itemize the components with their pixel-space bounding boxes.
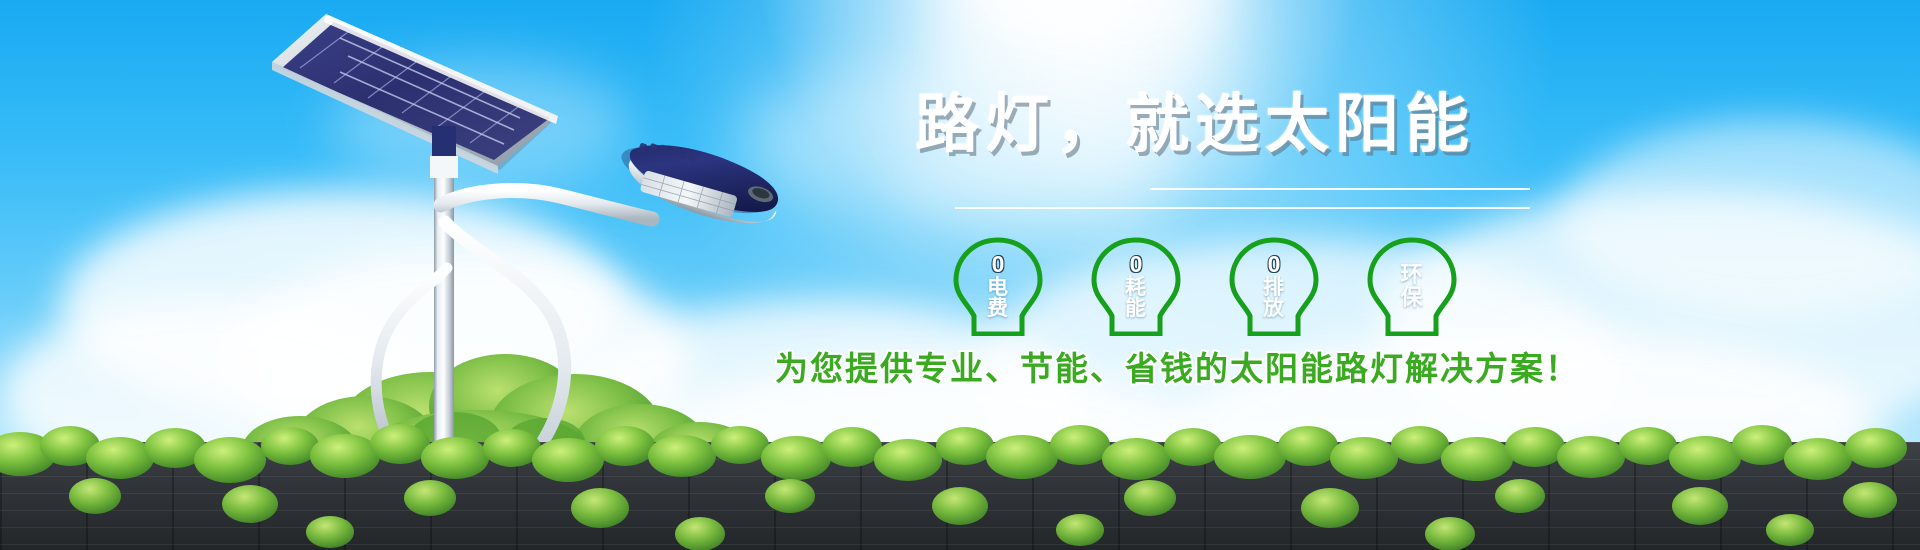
badge-zero-value: 0 — [1268, 253, 1281, 276]
divider-line-bottom — [955, 207, 1530, 209]
page-title: 路灯，就选太阳能 — [915, 92, 1475, 156]
badge-label: 耗 能 — [1125, 277, 1147, 320]
badge-label-line1: 排 — [1263, 277, 1285, 298]
feature-badge: 0 电 费 — [940, 236, 1056, 336]
feature-badge-list: 0 电 费 0 耗 能 0 排 放 — [940, 236, 1500, 336]
feature-badge: 0 排 放 — [1216, 236, 1332, 336]
ivy-foliage — [0, 400, 1920, 550]
badge-label-line1: 耗 — [1125, 277, 1147, 298]
feature-badge: 0 耗 能 — [1078, 236, 1194, 336]
badge-zero-value: 0 — [1130, 253, 1143, 276]
badge-label-line2: 能 — [1125, 298, 1147, 319]
badge-label-line2: 保 — [1400, 287, 1423, 309]
badge-zero-value: 0 — [992, 253, 1005, 276]
solar-street-light-banner: 路灯，就选太阳能 0 电 费 0 耗 能 — [0, 0, 1920, 550]
badge-label-line1: 环 — [1400, 264, 1423, 286]
badge-label-line2: 费 — [987, 298, 1009, 319]
badge-label-line2: 放 — [1263, 298, 1285, 319]
badge-label: 电 费 — [987, 277, 1009, 320]
badge-label: 环 保 — [1400, 264, 1423, 309]
badge-label: 排 放 — [1263, 277, 1285, 320]
tagline: 为您提供专业、节能、省钱的太阳能路灯解决方案！ — [775, 352, 1580, 385]
badge-label-line1: 电 — [987, 277, 1009, 298]
divider-line-top — [1150, 188, 1530, 190]
feature-badge: 环 保 — [1354, 236, 1470, 336]
